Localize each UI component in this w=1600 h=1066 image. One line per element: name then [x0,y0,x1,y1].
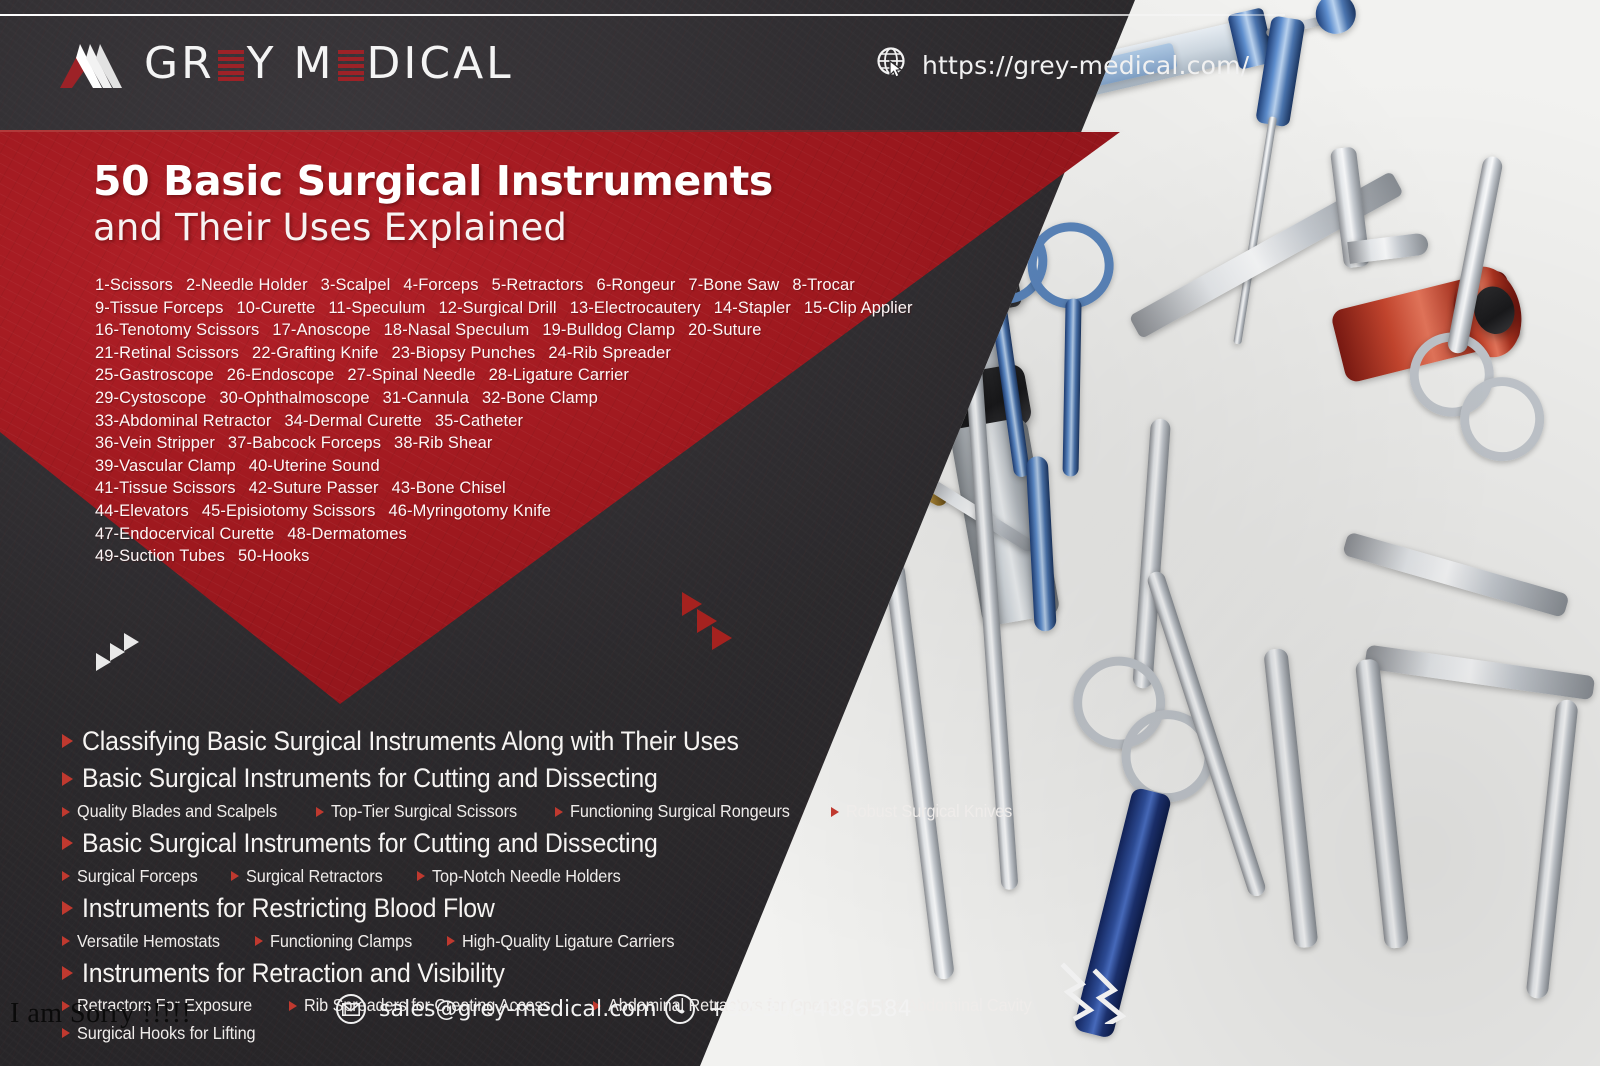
instrument-list-line: 29-Cystoscope30-Ophthalmoscope31-Cannula… [95,387,855,410]
logo-striped-e-1 [218,49,244,80]
outline-subitem[interactable]: Versatile Hemostats [62,929,231,954]
triangle-bullet-icon [255,936,263,946]
instrument-list-item: 28-Ligature Carrier [489,366,629,384]
instrument-list-item: 24-Rib Spreader [548,344,671,362]
triangle-bullet-icon [831,807,839,817]
outline-label: Top-Tier Surgical Scissors [331,799,517,824]
triangle-bullet-icon [316,807,324,817]
outline-label: Robust Surgical Knives [846,799,1012,824]
instrument-list-item: 42-Suture Passer [249,479,379,497]
outline-heading[interactable]: Basic Surgical Instruments for Cutting a… [62,825,708,861]
instrument-list-line: 1-Scissors2-Needle Holder3-Scalpel4-Forc… [95,274,855,297]
outline-row: Instruments for Retraction and Visibilit… [62,955,1102,991]
instrument-list-item: 12-Surgical Drill [439,299,557,317]
instrument-list-item: 35-Catheter [435,412,523,430]
triangle-bullet-icon [62,836,73,850]
instrument-list-item: 4-Forceps [403,276,478,294]
instrument-list-item: 14-Stapler [714,299,791,317]
triangle-chevron-logo-icon [58,38,130,90]
instrument-list-item: 25-Gastroscope [95,366,214,384]
outline-label: Top-Notch Needle Holders [432,864,621,889]
instrument-list-item: 31-Cannula [383,389,469,407]
instrument-list-item: 50-Hooks [238,547,309,565]
page-title: 50 Basic Surgical Instruments and Their … [93,160,833,248]
instrument-list-item: 16-Tenotomy Scissors [95,321,259,339]
envelope-icon [336,994,366,1024]
instrument-list-item: 40-Uterine Sound [249,457,380,475]
instrument-list-line: 39-Vascular Clamp40-Uterine Sound [95,455,855,478]
instrument-list-item: 7-Bone Saw [688,276,779,294]
page-title-line2: and Their Uses Explained [93,207,833,248]
instrument-list-item: 18-Nasal Speculum [384,321,530,339]
instrument-list-item: 47-Endocervical Curette [95,525,274,543]
instrument-list-item: 22-Grafting Knife [252,344,378,362]
page-header: GR Y M DICAL [0,0,1300,130]
instrument-list-item: 8-Trocar [792,276,855,294]
outline-label: Instruments for Restricting Blood Flow [82,890,495,926]
instrument-list-line: 16-Tenotomy Scissors17-Anoscope18-Nasal … [95,319,855,342]
instrument-list-item: 26-Endoscope [227,366,335,384]
instrument-list-item: 39-Vascular Clamp [95,457,236,475]
outline-subitem[interactable]: Top-Tier Surgical Scissors [316,799,531,824]
outline-row: Versatile HemostatsFunctioning ClampsHig… [62,929,1102,954]
triangle-bullet-icon [62,936,70,946]
logo-striped-e-2 [338,49,364,80]
triangle-bullet-icon [62,871,70,881]
outline-subitem[interactable]: Surgical Forceps [62,864,207,889]
instrument-list-item: 41-Tissue Scissors [95,479,236,497]
outline-label: Classifying Basic Surgical Instruments A… [82,723,739,759]
outline-subitem[interactable]: Top-Notch Needle Holders [417,864,635,889]
outline-row: Surgical ForcepsSurgical RetractorsTop-N… [62,864,1102,889]
outline-heading[interactable]: Classifying Basic Surgical Instruments A… [62,723,796,759]
instrument-list-line: 21-Retinal Scissors22-Grafting Knife23-B… [95,342,855,365]
instrument-list-line: 36-Vein Stripper37-Babcock Forceps38-Rib… [95,432,855,455]
instrument-list-line: 33-Abdominal Retractor34-Dermal Curette3… [95,410,855,433]
outline-label: Surgical Forceps [77,864,198,889]
footer-phone[interactable]: +92-306-4886584 [665,994,912,1024]
instrument-list-item: 45-Episiotomy Scissors [202,502,376,520]
triangle-bullet-icon [62,807,70,817]
outline-row: Basic Surgical Instruments for Cutting a… [62,825,1102,861]
instrument-list-item: 3-Scalpel [321,276,391,294]
instrument-list-item: 46-Myringotomy Knife [389,502,551,520]
brand-logo[interactable]: GR Y M DICAL [58,38,514,90]
page-title-line1: 50 Basic Surgical Instruments [93,160,833,203]
instrument-list-item: 29-Cystoscope [95,389,206,407]
whatsapp-phone-icon [665,994,695,1024]
footer-email[interactable]: sales@grey-medical.com [336,994,657,1024]
logo-text-part1: GR [144,42,215,86]
outline-label: Versatile Hemostats [77,929,220,954]
poster-root: GR Y M DICAL [0,0,1600,1066]
logo-text-part3: DICAL [367,42,514,86]
instrument-list-item: 19-Bulldog Clamp [542,321,675,339]
outline-row: Quality Blades and ScalpelsTop-Tier Surg… [62,799,1102,824]
website-url-text: https://grey-medical.com/ [922,51,1249,80]
outline-label: Quality Blades and Scalpels [77,799,277,824]
instrument-list-item: 48-Dermatomes [287,525,407,543]
logo-text-part2: Y M [247,42,335,86]
triangle-bullet-icon [555,807,563,817]
instrument-list-item: 20-Suture [688,321,761,339]
outline-subitem[interactable]: Surgical Retractors [231,864,393,889]
triangle-bullet-icon [62,734,73,748]
instrument-number-list: 1-Scissors2-Needle Holder3-Scalpel4-Forc… [95,274,855,568]
instrument-list-item: 5-Retractors [492,276,584,294]
outline-heading[interactable]: Basic Surgical Instruments for Cutting a… [62,760,708,796]
website-link[interactable]: https://grey-medical.com/ [876,46,1249,85]
instrument-list-line: 44-Elevators45-Episiotomy Scissors46-Myr… [95,500,855,523]
triangle-bullet-icon [62,772,73,786]
instrument-list-item: 36-Vein Stripper [95,434,215,452]
instrument-list-line: 49-Suction Tubes50-Hooks [95,545,855,568]
footer-email-text: sales@grey-medical.com [379,997,657,1022]
instrument-list-item: 10-Curette [236,299,315,317]
instrument-list-item: 15-Clip Applier [804,299,913,317]
globe-cursor-icon [876,46,910,85]
instrument-list-item: 33-Abdominal Retractor [95,412,271,430]
outline-row: Basic Surgical Instruments for Cutting a… [62,760,1102,796]
outline-label: Functioning Surgical Rongeurs [570,799,790,824]
banner-hairline [0,130,1125,132]
triangle-bullet-icon [417,871,425,881]
instrument-list-item: 37-Babcock Forceps [228,434,381,452]
outline-subitem[interactable]: Functioning Surgical Rongeurs [555,799,806,824]
instrument-list-item: 6-Rongeur [597,276,676,294]
outline-subitem[interactable]: Quality Blades and Scalpels [62,799,292,824]
instrument-list-item: 11-Speculum [328,299,425,317]
overlay-note-text: I am Sorry !!!!! [10,998,191,1030]
outline-row: Classifying Basic Surgical Instruments A… [62,723,1102,759]
instrument-list-item: 34-Dermal Curette [284,412,421,430]
instrument-list-item: 17-Anoscope [272,321,370,339]
triangle-bullet-icon [62,901,73,915]
instrument-list-line: 47-Endocervical Curette48-Dermatomes [95,523,855,546]
instrument-list-item: 30-Ophthalmoscope [219,389,369,407]
triangle-bullet-icon [62,966,73,980]
instrument-list-item: 9-Tissue Forceps [95,299,223,317]
instrument-list-item: 2-Needle Holder [186,276,308,294]
footer-phone-text: +92-306-4886584 [708,997,912,1022]
outline-label: Functioning Clamps [270,929,412,954]
instrument-list-line: 9-Tissue Forceps10-Curette11-Speculum12-… [95,297,855,320]
instrument-list-item: 21-Retinal Scissors [95,344,239,362]
outline-subitem[interactable]: Robust Surgical Knives [831,799,1025,824]
outline-label: Basic Surgical Instruments for Cutting a… [82,760,658,796]
triangle-bullet-icon [231,871,239,881]
instrument-list-item: 44-Elevators [95,502,189,520]
instrument-list-item: 1-Scissors [95,276,173,294]
brand-logo-text: GR Y M DICAL [144,42,514,86]
outline-row: Instruments for Restricting Blood Flow [62,890,1102,926]
outline-label: Basic Surgical Instruments for Cutting a… [82,825,658,861]
outline-heading[interactable]: Instruments for Restricting Blood Flow [62,890,531,926]
instrument-list-line: 41-Tissue Scissors42-Suture Passer43-Bon… [95,477,855,500]
instrument-list-item: 43-Bone Chisel [392,479,506,497]
instrument-list-item: 49-Suction Tubes [95,547,225,565]
triangle-bullet-icon [447,936,455,946]
outline-label: High-Quality Ligature Carriers [462,929,674,954]
instrument-list-item: 38-Rib Shear [394,434,492,452]
instrument-list-item: 32-Bone Clamp [482,389,598,407]
instrument-list-item: 27-Spinal Needle [347,366,475,384]
instrument-list-line: 25-Gastroscope26-Endoscope27-Spinal Need… [95,364,855,387]
outline-subitem[interactable]: Functioning Clamps [255,929,423,954]
outline-heading[interactable]: Instruments for Retraction and Visibilit… [62,955,542,991]
instrument-list-item: 23-Biopsy Punches [391,344,535,362]
outline-label: Surgical Retractors [246,864,383,889]
outline-subitem[interactable]: High-Quality Ligature Carriers [447,929,690,954]
outline-label: Instruments for Retraction and Visibilit… [82,955,505,991]
instrument-list-item: 13-Electrocautery [570,299,701,317]
